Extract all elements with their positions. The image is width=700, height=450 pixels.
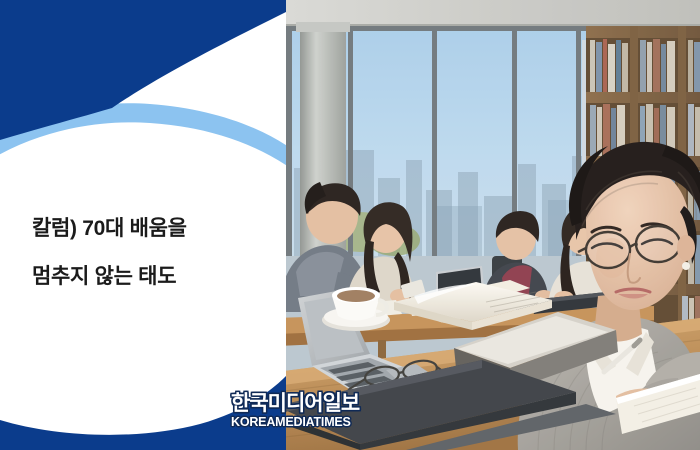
library-scene-illustration	[286, 0, 700, 450]
headline-line-2: 멈추지 않는 태도	[32, 266, 262, 287]
logo-korean-text: 한국미디어일보	[231, 393, 359, 414]
logo-english-text: KOREAMEDIATIMES	[231, 416, 359, 429]
article-photo	[286, 0, 700, 450]
headline-line-1: 칼럼) 70대 배움을	[32, 218, 262, 239]
headline: 칼럼) 70대 배움을 멈추지 않는 태도	[32, 218, 262, 287]
left-title-panel: 칼럼) 70대 배움을 멈추지 않는 태도	[0, 0, 286, 450]
news-card: 칼럼) 70대 배움을 멈추지 않는 태도	[0, 0, 700, 450]
publisher-logo: 한국미디어일보 KOREAMEDIATIMES	[231, 393, 359, 429]
